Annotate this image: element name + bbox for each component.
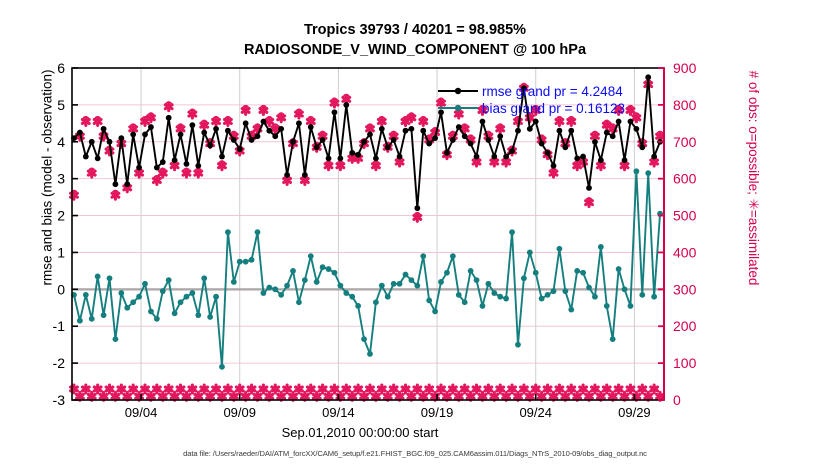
svg-text:700: 700 — [673, 134, 697, 150]
svg-text:09/09: 09/09 — [223, 405, 256, 420]
svg-text:900: 900 — [673, 60, 697, 76]
svg-text:4: 4 — [57, 134, 65, 150]
svg-text:0: 0 — [673, 392, 681, 408]
svg-text:6: 6 — [57, 60, 65, 76]
svg-text:2: 2 — [57, 208, 65, 224]
svg-text:400: 400 — [673, 244, 697, 260]
svg-text:bias grand pr = 0.16123: bias grand pr = 0.16123 — [482, 101, 625, 116]
svg-text:200: 200 — [673, 318, 697, 334]
svg-text:09/24: 09/24 — [519, 405, 552, 420]
svg-text:5: 5 — [57, 97, 65, 113]
svg-text:-1: -1 — [53, 318, 66, 334]
svg-text:-3: -3 — [53, 392, 66, 408]
figure-canvas: Tropics 39793 / 40201 = 98.985% RADIOSON… — [0, 0, 830, 470]
svg-text:600: 600 — [673, 171, 697, 187]
svg-text:300: 300 — [673, 281, 697, 297]
chart-legend[interactable]: rmse grand pr = 4.2484bias grand pr = 0.… — [438, 84, 625, 116]
svg-text:rmse grand pr = 4.2484: rmse grand pr = 4.2484 — [482, 84, 623, 99]
svg-text:09/29: 09/29 — [618, 405, 651, 420]
svg-text:-2: -2 — [53, 355, 66, 371]
svg-text:09/19: 09/19 — [421, 405, 454, 420]
svg-text:100: 100 — [673, 355, 697, 371]
svg-text:09/04: 09/04 — [125, 405, 158, 420]
observation-count-markers — [71, 80, 664, 400]
svg-text:1: 1 — [57, 244, 65, 260]
plot-area: -3-2-10123456010020030040050060070080090… — [0, 0, 830, 470]
svg-text:800: 800 — [673, 97, 697, 113]
svg-text:0: 0 — [57, 281, 65, 297]
svg-text:500: 500 — [673, 208, 697, 224]
svg-text:09/14: 09/14 — [322, 405, 355, 420]
svg-text:3: 3 — [57, 171, 65, 187]
